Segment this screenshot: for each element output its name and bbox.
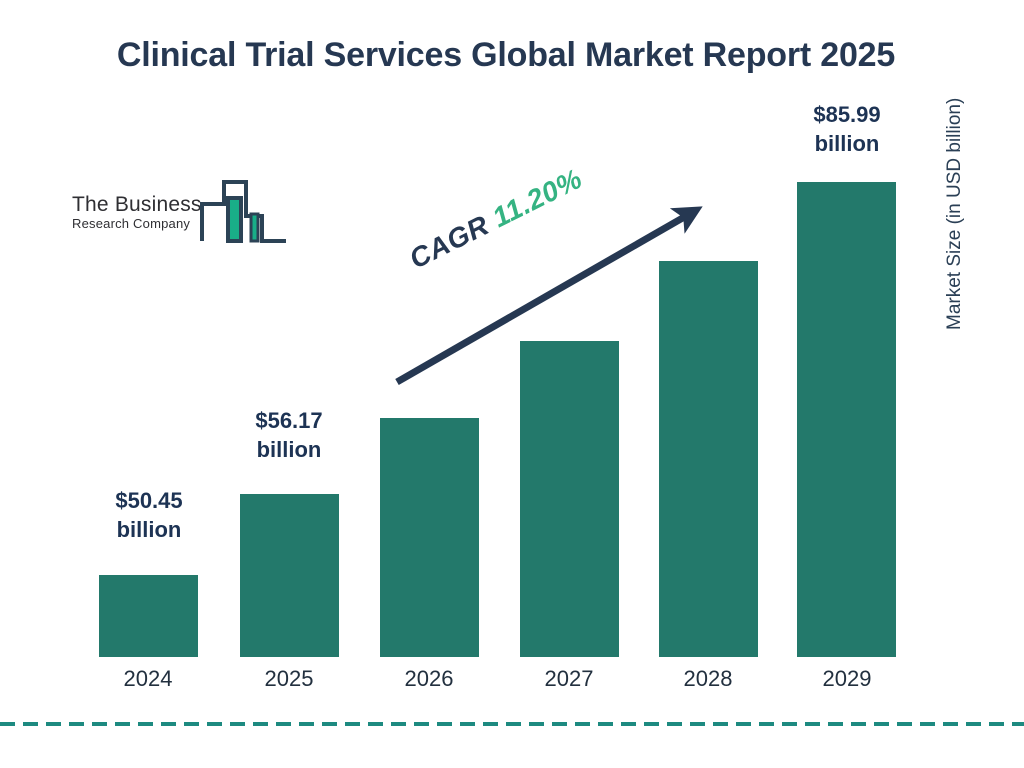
bar-value-2029-unit: billion <box>786 129 908 158</box>
cagr-label-word: CAGR <box>404 209 493 274</box>
chart-canvas: Clinical Trial Services Global Market Re… <box>0 0 1024 768</box>
bar-value-2025-amount: $56.17 <box>228 406 350 435</box>
bar-value-2029-amount: $85.99 <box>786 100 908 129</box>
bar-2027 <box>520 341 619 657</box>
x-tick-2026: 2026 <box>369 666 489 692</box>
x-tick-2028: 2028 <box>648 666 768 692</box>
x-tick-2025: 2025 <box>229 666 349 692</box>
x-tick-2027: 2027 <box>509 666 629 692</box>
bar-2026 <box>380 418 479 657</box>
bar-2029 <box>797 182 896 657</box>
cagr-annotation: CAGR 11.20% <box>404 162 588 277</box>
y-axis-title: Market Size (in USD billion) <box>940 10 970 330</box>
bar-2025 <box>240 494 339 657</box>
footer-divider <box>0 722 1024 726</box>
bar-value-2024-unit: billion <box>88 515 210 544</box>
x-tick-2024: 2024 <box>88 666 208 692</box>
bar-value-2029: $85.99 billion <box>786 100 908 158</box>
bar-value-2024: $50.45 billion <box>88 486 210 544</box>
x-tick-2029: 2029 <box>787 666 907 692</box>
bar-value-2024-amount: $50.45 <box>88 486 210 515</box>
bar-value-2025: $56.17 billion <box>228 406 350 464</box>
plot-area: $50.45 billion $56.17 billion $85.99 bil… <box>0 0 1024 768</box>
bar-2024 <box>99 575 198 657</box>
cagr-label-value: 11.20% <box>487 163 587 234</box>
bar-value-2025-unit: billion <box>228 435 350 464</box>
bar-2028 <box>659 261 758 657</box>
